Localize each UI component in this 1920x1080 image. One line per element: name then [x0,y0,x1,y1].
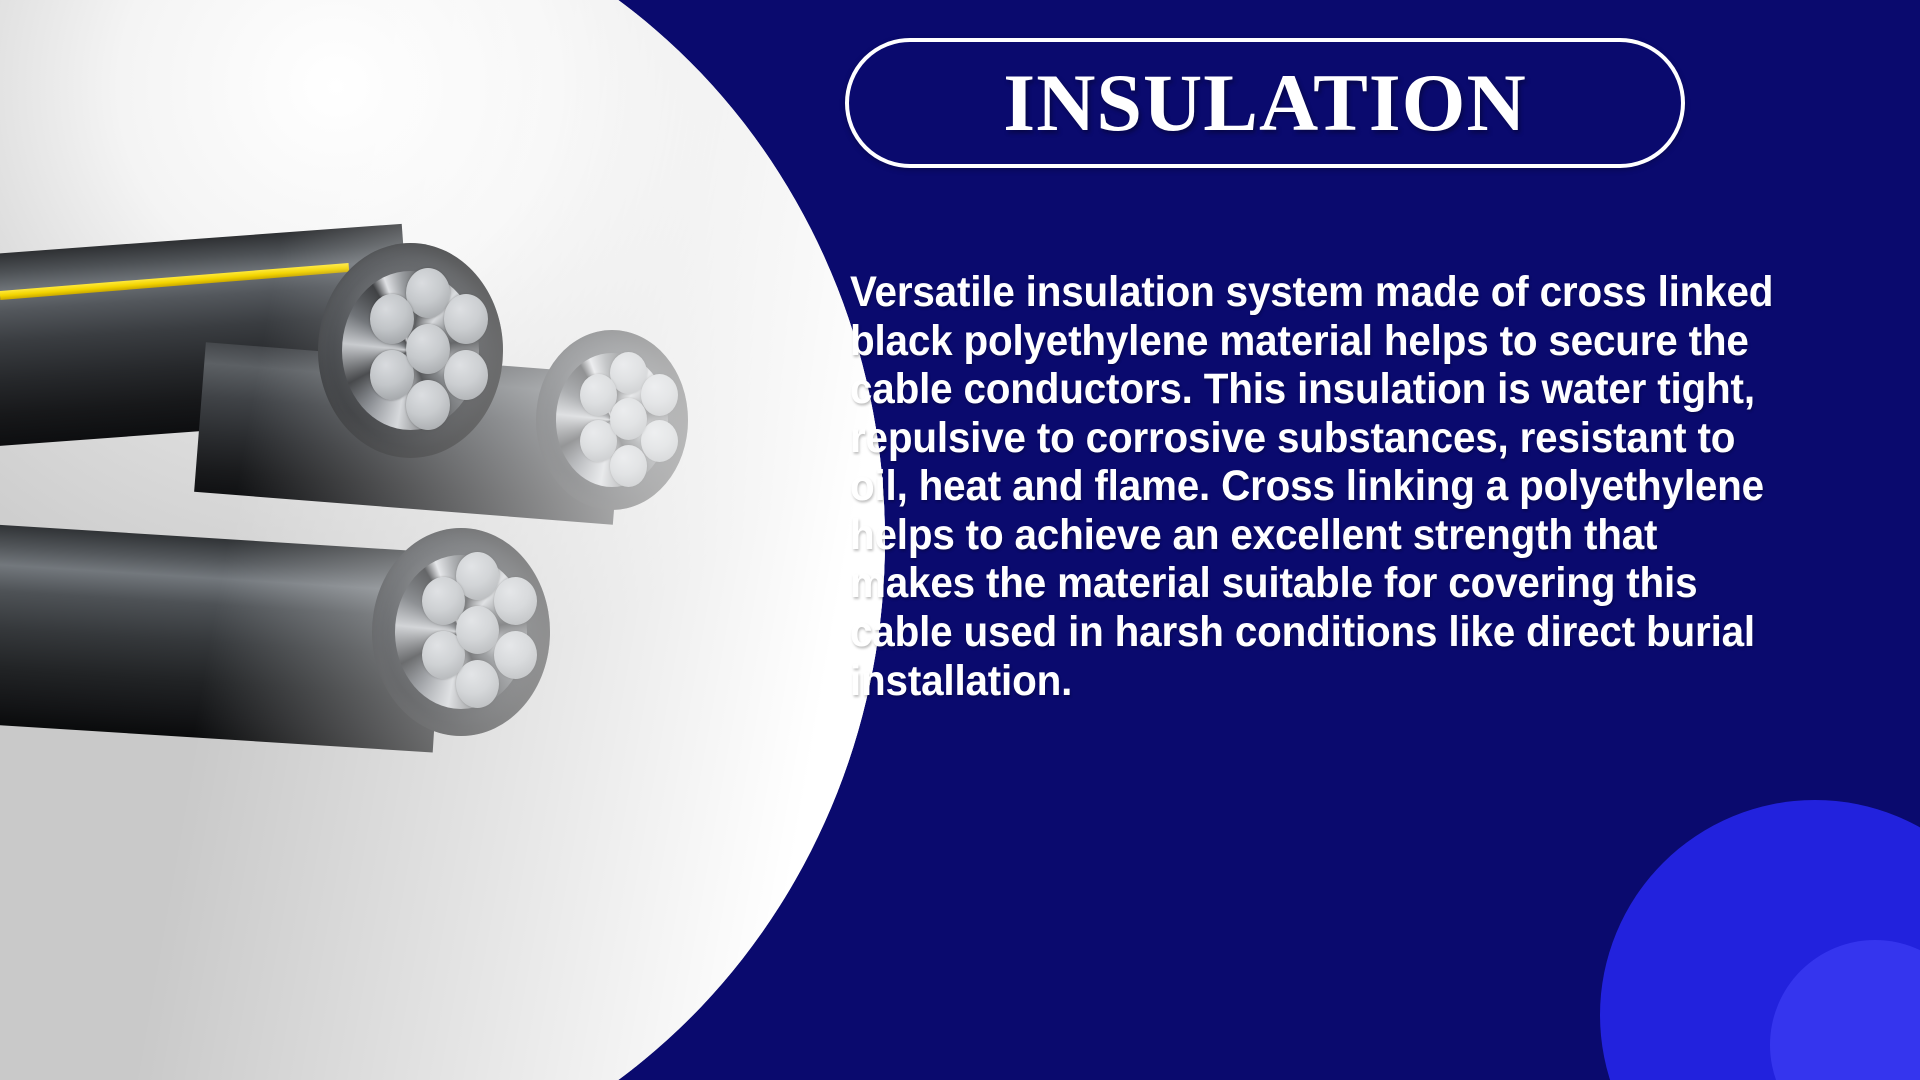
photo-circle-mask [0,0,885,1080]
page-title: INSULATION [1003,62,1526,144]
title-badge: INSULATION [845,38,1685,168]
content-panel: INSULATION Versatile insulation system m… [860,0,1920,1080]
conductor-bundle-bottom [420,552,548,712]
body-paragraph: Versatile insulation system made of cros… [850,268,1790,705]
conductor-bundle-middle [578,352,688,490]
slide-root: INSULATION Versatile insulation system m… [0,0,1920,1080]
conductor-bundle-top [368,268,500,434]
cable-product-photo [0,0,885,1080]
